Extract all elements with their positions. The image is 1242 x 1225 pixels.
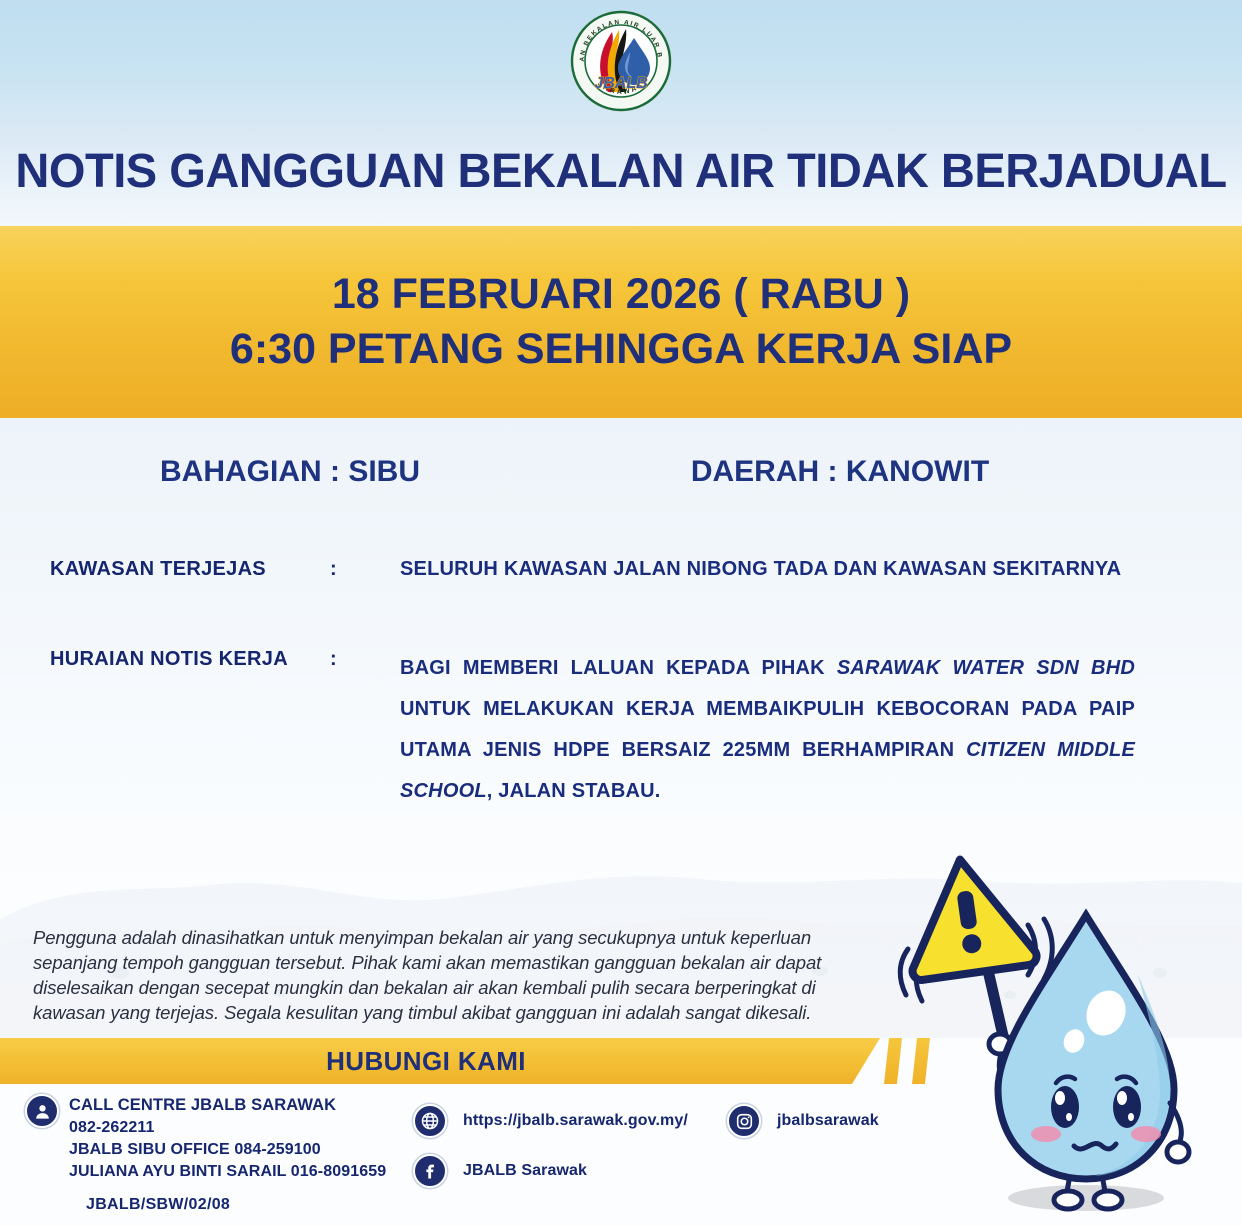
person-icon bbox=[25, 1094, 59, 1128]
instagram-contact[interactable]: jbalbsarawak bbox=[727, 1104, 879, 1138]
banner-stripe-1 bbox=[884, 1038, 902, 1084]
facebook-label[interactable]: JBALB Sarawak bbox=[447, 1154, 587, 1182]
water-disruption-notice-poster: JABATAN BEKALAN AIR LUAR BANDAR SARAWAK … bbox=[0, 0, 1242, 1225]
work-description-value: BAGI MEMBERI LALUAN KEPADA PIHAK SARAWAK… bbox=[400, 648, 1135, 812]
contact-banner: HUBUNGI KAMI bbox=[0, 1038, 1242, 1084]
facebook-icon bbox=[413, 1154, 447, 1188]
poster-header: JABATAN BEKALAN AIR LUAR BANDAR SARAWAK … bbox=[0, 0, 1242, 226]
call-centre-title: CALL CENTRE JBALB SARAWAK bbox=[69, 1094, 386, 1117]
facebook-contact[interactable]: JBALB Sarawak bbox=[413, 1154, 587, 1188]
region-row: BAHAGIAN : SIBU DAERAH : KANOWIT bbox=[0, 455, 1242, 489]
banner-stripe-2 bbox=[912, 1038, 930, 1084]
contact-banner-title: HUBUNGI KAMI bbox=[0, 1038, 852, 1084]
affected-area-colon: : bbox=[330, 558, 400, 581]
call-centre-phone[interactable]: 082-262211 bbox=[69, 1117, 386, 1139]
work-description-field: HURAIAN NOTIS KERJA : BAGI MEMBERI LALUA… bbox=[0, 648, 1135, 812]
affected-area-field: KAWASAN TERJEJAS : SELURUH KAWASAN JALAN… bbox=[0, 558, 1170, 581]
affected-area-value: SELURUH KAWASAN JALAN NIBONG TADA DAN KA… bbox=[400, 558, 1170, 581]
instagram-icon bbox=[727, 1104, 761, 1138]
work-description-colon: : bbox=[330, 648, 400, 671]
website-label[interactable]: https://jbalb.sarawak.gov.my/ bbox=[447, 1104, 688, 1132]
advisory-paragraph: Pengguna adalah dinasihatkan untuk menyi… bbox=[33, 925, 878, 1026]
work-description-label: HURAIAN NOTIS KERJA bbox=[0, 648, 330, 671]
division-label: BAHAGIAN : SIBU bbox=[0, 455, 580, 489]
reference-number: JBALB/SBW/02/08 bbox=[86, 1196, 230, 1214]
globe-icon bbox=[413, 1104, 447, 1138]
district-label: DAERAH : KANOWIT bbox=[580, 455, 1100, 489]
website-contact[interactable]: https://jbalb.sarawak.gov.my/ bbox=[413, 1104, 688, 1138]
affected-area-label: KAWASAN TERJEJAS bbox=[0, 558, 330, 581]
jbalb-logo: JABATAN BEKALAN AIR LUAR BANDAR SARAWAK … bbox=[568, 8, 674, 114]
notice-time: 6:30 PETANG SEHINGGA KERJA SIAP bbox=[230, 322, 1012, 377]
date-time-band: 18 FEBRUARI 2026 ( RABU ) 6:30 PETANG SE… bbox=[0, 226, 1242, 418]
call-centre-text: CALL CENTRE JBALB SARAWAK 082-262211 JBA… bbox=[59, 1094, 386, 1183]
notice-date: 18 FEBRUARI 2026 ( RABU ) bbox=[332, 267, 910, 322]
sibu-office-phone[interactable]: JBALB SIBU OFFICE 084-259100 bbox=[69, 1139, 386, 1161]
call-centre-contact: CALL CENTRE JBALB SARAWAK 082-262211 JBA… bbox=[25, 1094, 386, 1183]
svg-text:JBALB: JBALB bbox=[594, 75, 647, 92]
officer-phone[interactable]: JULIANA AYU BINTI SARAIL 016-8091659 bbox=[69, 1161, 386, 1183]
instagram-label[interactable]: jbalbsarawak bbox=[761, 1104, 879, 1132]
page-title: NOTIS GANGGUAN BEKALAN AIR TIDAK BERJADU… bbox=[12, 144, 1229, 199]
